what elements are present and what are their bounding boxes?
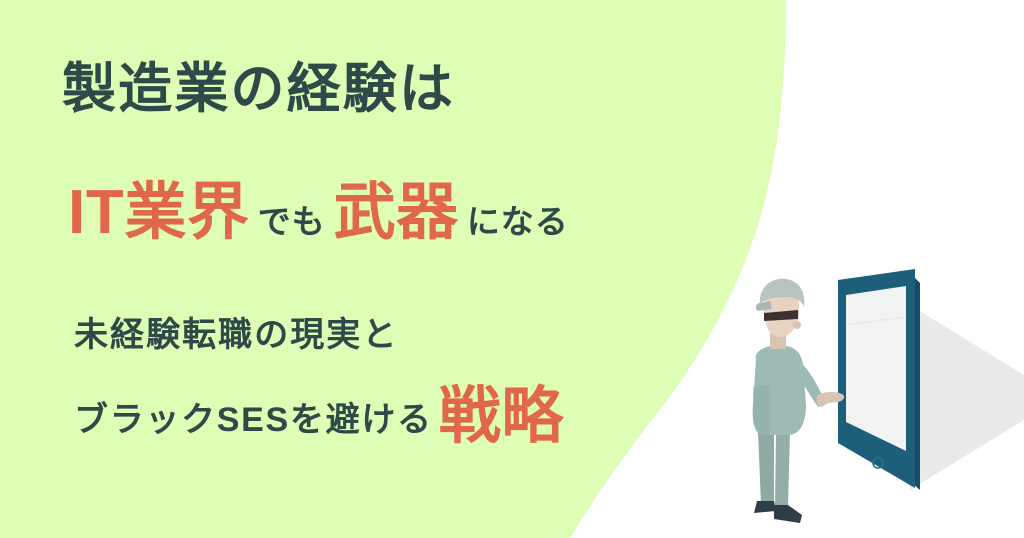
headline-accent-weapon: 武器	[334, 182, 459, 244]
person-ear	[793, 321, 801, 329]
person-right-leg	[775, 431, 790, 507]
person-left-leg	[758, 431, 774, 505]
subheadline-text-black-ses: ブラックSESを避ける	[74, 403, 433, 437]
hero-banner: 製造業の経験は IT業界 でも 武器 になる 未経験転職の現実と ブラックSES…	[0, 0, 1024, 538]
tablet-screen-icon	[846, 286, 906, 451]
illustration-person-with-tablet	[730, 255, 1024, 538]
headline-connector-demo: でも	[250, 205, 334, 238]
device-shadow-icon	[910, 305, 1024, 490]
person-torso-shading	[753, 385, 770, 435]
headline-line-1: 製造業の経験は	[62, 62, 455, 116]
person-left-shoe	[754, 501, 776, 513]
headline-connector-ninaru: になる	[459, 205, 577, 238]
person-right-shoe	[774, 505, 802, 523]
subheadline-line-2: ブラックSESを避ける 戦略	[74, 380, 564, 442]
headline-copy-block: 製造業の経験は IT業界 でも 武器 になる 未経験転職の現実と ブラックSES…	[0, 0, 760, 538]
subheadline-accent-strategy: 戦略	[433, 386, 564, 448]
subheadline-line-1: 未経験転職の現実と	[74, 318, 398, 352]
headline-accent-it-industry: IT業界	[68, 182, 250, 244]
headline-line-2: IT業界 でも 武器 になる	[68, 182, 577, 244]
